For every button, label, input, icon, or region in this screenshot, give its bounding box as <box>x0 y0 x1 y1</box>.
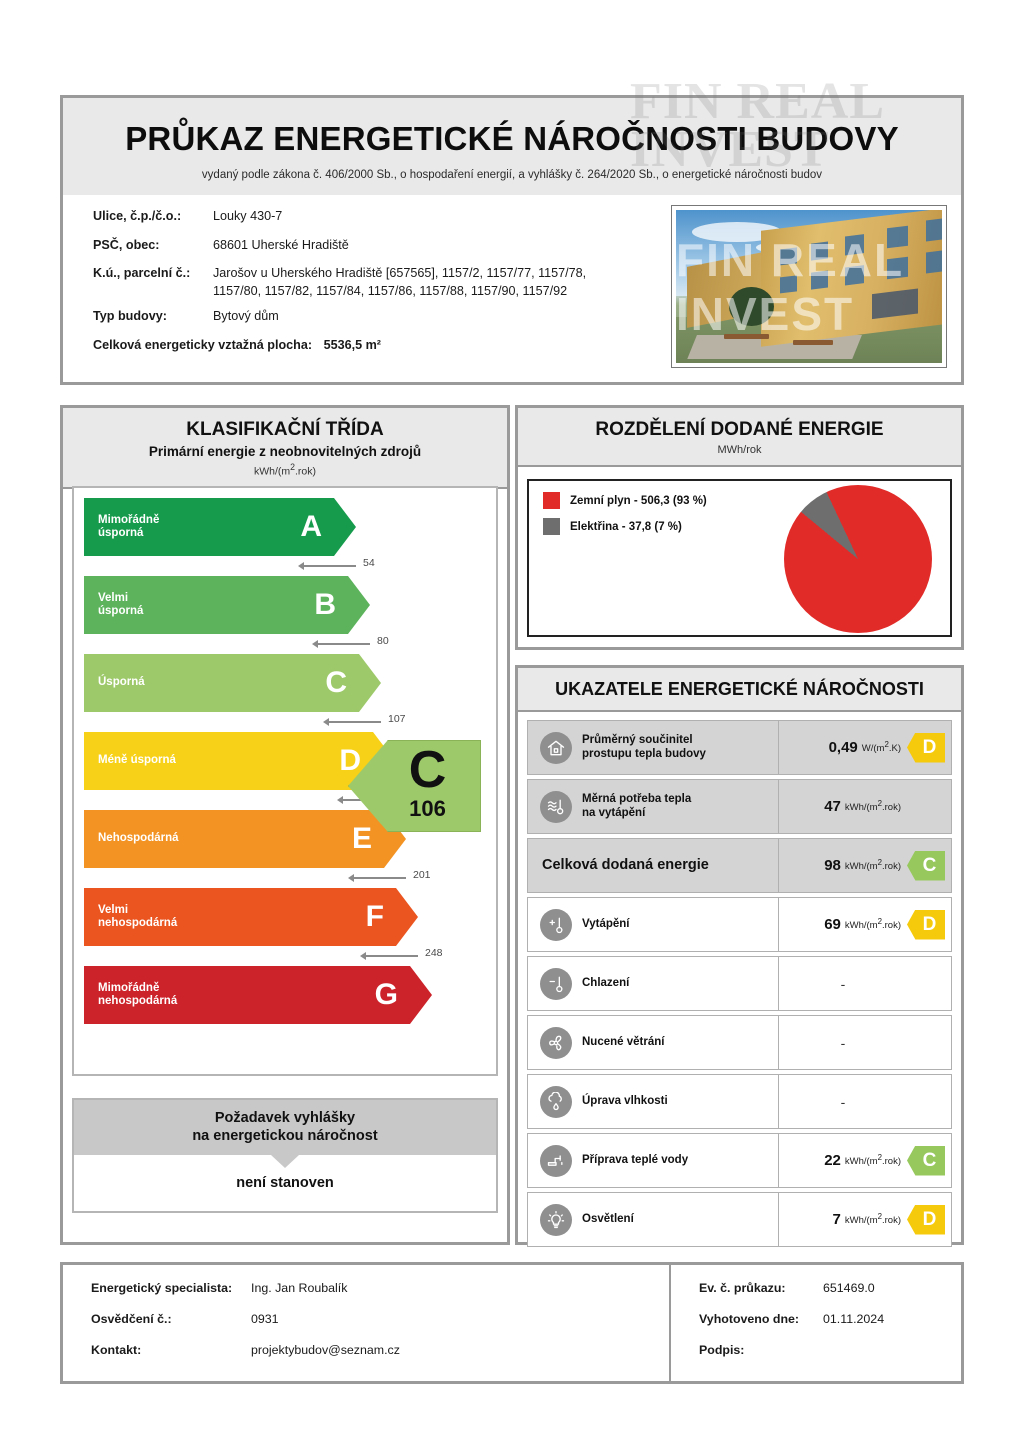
legend-swatch <box>543 492 560 509</box>
indicator-unit: kWh/(m2.rok) <box>845 799 901 813</box>
indicator-value-cell: 98kWh/(m2.rok)C <box>779 839 951 892</box>
indicator-value-cell: 47kWh/(m2.rok) <box>779 780 951 833</box>
legend-swatch <box>543 518 560 535</box>
indicator-grade-badge: C <box>907 1146 945 1176</box>
indicator-value: 47 <box>824 798 841 815</box>
building-photo: FIN REAL INVEST <box>676 210 942 363</box>
info-row-cadastre: K.ú., parcelní č.: Jarošov u Uherského H… <box>93 266 693 282</box>
indicators-list: Průměrný součinitel prostupu tepla budov… <box>527 720 952 1233</box>
indicator-value-cell: 0,49W/(m2.K)D <box>779 721 951 774</box>
indicator-label: Nucené větrání <box>582 1036 664 1050</box>
building-type-label: Typ budovy: <box>93 309 213 325</box>
faucet-icon <box>540 1145 572 1177</box>
class-label: Úsporná <box>84 676 325 689</box>
heating-thermometer-icon <box>540 909 572 941</box>
info-row-street: Ulice, č.p./č.o.: Louky 430-7 <box>93 209 693 225</box>
indicator-label: Průměrný součinitel prostupu tepla budov… <box>582 734 706 762</box>
class-label: Mimořádně úsporná <box>84 514 300 540</box>
class-label: Velmi úsporná <box>84 592 314 618</box>
footer-left: Energetický specialista: Ing. Jan Roubal… <box>63 1265 671 1381</box>
indicator-left: Úprava vlhkosti <box>528 1075 779 1128</box>
indicator-grade-spacer <box>907 792 945 822</box>
page-subtitle: vydaný podle zákona č. 406/2000 Sb., o h… <box>63 169 961 181</box>
threshold-line <box>304 565 356 567</box>
threshold-line <box>318 643 370 645</box>
classification-unit: kWh/(m2.rok) <box>63 462 507 478</box>
result-letter: C <box>409 750 447 792</box>
street-label: Ulice, č.p./č.o.: <box>93 209 213 225</box>
specialist-label: Energetický specialista: <box>91 1281 251 1295</box>
energy-class-d: Méně úspornáD154 <box>84 732 384 809</box>
class-bar-d: Méně úspornáD <box>84 732 373 790</box>
photo-entrance <box>872 288 918 319</box>
heat-waves-thermometer-icon <box>540 791 572 823</box>
classification-header: KLASIFIKAČNÍ TŘÍDA Primární energie z ne… <box>63 408 507 489</box>
footer-row-contact: Kontakt: projektybudov@seznam.cz <box>91 1343 669 1357</box>
indicator-left: Osvětlení <box>528 1193 779 1246</box>
indicator-unit: kWh/(m2.rok) <box>845 1212 901 1226</box>
indicator-label: Měrná potřeba tepla na vytápění <box>582 793 691 821</box>
indicator-row: Osvětlení7kWh/(m2.rok)D <box>527 1192 952 1247</box>
threshold-value: 80 <box>377 635 389 647</box>
indicator-row: Celková dodaná energie98kWh/(m2.rok)C <box>527 838 952 893</box>
photo-window <box>926 250 942 274</box>
photo-window <box>811 270 828 290</box>
pie-title: ROZDĚLENÍ DODANÉ ENERGIE <box>518 419 961 441</box>
class-letter: B <box>314 588 348 622</box>
indicator-value-cell: 22kWh/(m2.rok)C <box>779 1134 951 1187</box>
class-bar-a: Mimořádně úspornáA <box>84 498 334 556</box>
class-bar-arrow <box>396 888 418 946</box>
building-photo-frame: FIN REAL INVEST <box>671 205 947 368</box>
footer-row-specialist: Energetický specialista: Ing. Jan Roubal… <box>91 1281 669 1295</box>
indicator-row: Měrná potřeba tepla na vytápění47kWh/(m2… <box>527 779 952 834</box>
class-bar-arrow <box>359 654 381 712</box>
energy-class-f: Velmi nehospodárnáF248 <box>84 888 384 965</box>
indicator-unit: kWh/(m2.rok) <box>845 917 901 931</box>
indicator-value: - <box>779 976 945 992</box>
footer-right: Ev. č. průkazu: 651469.0 Vyhotoveno dne:… <box>671 1265 961 1381</box>
photo-window <box>780 275 797 293</box>
info-row-type: Typ budovy: Bytový dům <box>93 309 693 325</box>
cadastre-value: Jarošov u Uherského Hradiště [657565], 1… <box>213 266 693 282</box>
pie-header: ROZDĚLENÍ DODANÉ ENERGIE MWh/rok <box>518 408 961 467</box>
threshold-marker: 107 <box>84 712 384 731</box>
class-letter: A <box>300 510 334 544</box>
photo-window <box>811 241 828 261</box>
energy-class-e: NehospodárnáE201 <box>84 810 384 887</box>
legend-item: Elektřina - 37,8 (7 %) <box>543 518 707 535</box>
indicator-value-cell: - <box>779 1016 951 1069</box>
threshold-line <box>354 877 406 879</box>
energy-distribution-panel: ROZDĚLENÍ DODANÉ ENERGIE MWh/rok Zemní p… <box>515 405 964 650</box>
indicator-grade-badge: C <box>907 851 945 881</box>
class-label: Velmi nehospodárná <box>84 904 366 930</box>
contact-value[interactable]: projektybudov@seznam.cz <box>251 1343 400 1357</box>
indicator-label: Chlazení <box>582 977 629 991</box>
classification-panel: KLASIFIKAČNÍ TŘÍDA Primární energie z ne… <box>60 405 510 1245</box>
indicators-title: UKAZATELE ENERGETICKÉ NÁROČNOSTI <box>518 679 961 700</box>
class-label: Méně úsporná <box>84 754 339 767</box>
signature-label: Podpis: <box>699 1343 823 1357</box>
indicator-grade-badge: D <box>907 733 945 763</box>
class-bar-arrow <box>348 576 370 634</box>
photo-window <box>926 218 942 242</box>
certificate-value: 0931 <box>251 1312 279 1326</box>
house-icon <box>540 732 572 764</box>
class-letter: C <box>325 666 359 700</box>
indicator-label: Vytápění <box>582 918 630 932</box>
floor-area-value: 5536,5 m² <box>324 338 381 352</box>
threshold-arrow <box>323 718 329 726</box>
indicator-value-cell: 69kWh/(m2.rok)D <box>779 898 951 951</box>
requirement-title: Požadavek vyhlášky na energetickou nároč… <box>74 1100 496 1155</box>
photo-window <box>888 257 909 279</box>
energy-scale: Mimořádně úspornáA54Velmi úspornáB80Úspo… <box>72 486 498 1076</box>
class-bar-b: Velmi úspornáB <box>84 576 348 634</box>
class-bar-e: NehospodárnáE <box>84 810 384 868</box>
indicator-row: Chlazení- <box>527 956 952 1011</box>
result-badge-shape: C 106 <box>348 740 481 832</box>
energy-class-b: Velmi úspornáB80 <box>84 576 384 653</box>
indicator-row: Příprava teplé vody22kWh/(m2.rok)C <box>527 1133 952 1188</box>
building-info-area: Ulice, č.p./č.o.: Louky 430-7 PSČ, obec:… <box>63 195 961 376</box>
legend-label: Elektřina - 37,8 (7 %) <box>570 521 682 533</box>
indicator-label: Příprava teplé vody <box>582 1154 688 1168</box>
humidity-icon <box>540 1086 572 1118</box>
energy-class-c: ÚspornáC107 <box>84 654 384 731</box>
evidence-label: Ev. č. průkazu: <box>699 1281 823 1295</box>
indicator-label: Úprava vlhkosti <box>582 1095 668 1109</box>
building-type-value: Bytový dům <box>213 309 693 325</box>
threshold-value: 201 <box>413 869 431 881</box>
class-bar-f: Velmi nehospodárnáF <box>84 888 396 946</box>
zip-value: 68601 Uherské Hradiště <box>213 238 693 254</box>
class-bar-c: ÚspornáC <box>84 654 359 712</box>
indicator-unit: W/(m2.K) <box>862 740 901 754</box>
evidence-value: 651469.0 <box>823 1281 875 1295</box>
indicator-label: Osvětlení <box>582 1213 634 1227</box>
footer-row-evidence: Ev. č. průkazu: 651469.0 <box>699 1281 961 1295</box>
header-panel: PRŮKAZ ENERGETICKÉ NÁROČNOSTI BUDOVY vyd… <box>60 95 964 385</box>
zip-label: PSČ, obec: <box>93 238 213 254</box>
threshold-arrow <box>348 874 354 882</box>
indicator-row: Nucené větrání- <box>527 1015 952 1070</box>
indicator-row: Průměrný součinitel prostupu tepla budov… <box>527 720 952 775</box>
photo-window <box>845 265 864 286</box>
photo-window <box>780 247 797 265</box>
title-band: PRŮKAZ ENERGETICKÉ NÁROČNOSTI BUDOVY vyd… <box>63 98 961 195</box>
class-bar-g: Mimořádně nehospodárnáG <box>84 966 410 1024</box>
threshold-arrow <box>360 952 366 960</box>
indicator-value: - <box>779 1094 945 1110</box>
penb-document: PRŮKAZ ENERGETICKÉ NÁROČNOSTI BUDOVY vyd… <box>0 0 1024 1451</box>
indicator-value: - <box>779 1035 945 1051</box>
indicator-value: 22 <box>824 1152 841 1169</box>
threshold-line <box>329 721 381 723</box>
floor-area-row: Celková energeticky vztažná plocha: 5536… <box>93 338 693 354</box>
contact-label: Kontakt: <box>91 1343 251 1357</box>
info-row-zip: PSČ, obec: 68601 Uherské Hradiště <box>93 238 693 254</box>
threshold-arrow <box>337 796 343 804</box>
indicator-unit: kWh/(m2.rok) <box>845 858 901 872</box>
indicator-row: Vytápění69kWh/(m2.rok)D <box>527 897 952 952</box>
indicators-header: UKAZATELE ENERGETICKÉ NÁROČNOSTI <box>518 668 961 712</box>
legend-item: Zemní plyn - 506,3 (93 %) <box>543 492 707 509</box>
pie-subtitle: MWh/rok <box>518 444 961 456</box>
indicator-value-cell: 7kWh/(m2.rok)D <box>779 1193 951 1246</box>
indicator-left: Chlazení <box>528 957 779 1010</box>
energy-class-a: Mimořádně úspornáA54 <box>84 498 384 575</box>
indicator-value: 69 <box>824 916 841 933</box>
indicator-left: Nucené větrání <box>528 1016 779 1069</box>
date-value: 01.11.2024 <box>823 1312 884 1326</box>
street-value: Louky 430-7 <box>213 209 693 225</box>
energy-class-bars: Mimořádně úspornáA54Velmi úspornáB80Úspo… <box>84 498 384 1025</box>
indicator-left: Měrná potřeba tepla na vytápění <box>528 780 779 833</box>
photo-window <box>888 226 909 248</box>
threshold-value: 248 <box>425 947 443 959</box>
indicator-left: Příprava teplé vody <box>528 1134 779 1187</box>
photo-bench <box>793 340 833 345</box>
indicators-panel: UKAZATELE ENERGETICKÉ NÁROČNOSTI Průměrn… <box>515 665 964 1245</box>
building-info: Ulice, č.p./č.o.: Louky 430-7 PSČ, obec:… <box>93 209 693 353</box>
indicator-value-cell: - <box>779 1075 951 1128</box>
pie-body: Zemní plyn - 506,3 (93 %)Elektřina - 37,… <box>527 479 952 637</box>
photo-window <box>845 234 864 255</box>
indicator-grade-badge: D <box>907 1205 945 1235</box>
fan-icon <box>540 1027 572 1059</box>
floor-area-label: Celková energeticky vztažná plocha: <box>93 338 312 352</box>
lightbulb-icon <box>540 1204 572 1236</box>
requirement-notch <box>271 1155 299 1168</box>
energy-class-g: Mimořádně nehospodárnáG <box>84 966 384 1024</box>
result-value: 106 <box>409 796 446 822</box>
indicator-left: Vytápění <box>528 898 779 951</box>
class-bar-arrow <box>334 498 356 556</box>
cooling-thermometer-icon <box>540 968 572 1000</box>
threshold-line <box>366 955 418 957</box>
indicator-unit: kWh/(m2.rok) <box>845 1153 901 1167</box>
certificate-label: Osvědčení č.: <box>91 1312 251 1326</box>
indicator-left: Průměrný součinitel prostupu tepla budov… <box>528 721 779 774</box>
threshold-arrow <box>312 640 318 648</box>
threshold-marker: 248 <box>84 946 384 965</box>
cadastre-label: K.ú., parcelní č.: <box>93 266 213 282</box>
indicator-value-cell: - <box>779 957 951 1010</box>
cadastre-value-line2: 1157/80, 1157/82, 1157/84, 1157/86, 1157… <box>213 284 693 300</box>
indicator-value: 98 <box>824 857 841 874</box>
threshold-value: 54 <box>363 557 375 569</box>
threshold-value: 107 <box>388 713 406 725</box>
result-badge: C 106 <box>348 740 481 832</box>
class-letter: G <box>375 978 410 1012</box>
threshold-marker: 80 <box>84 634 384 653</box>
threshold-marker: 54 <box>84 556 384 575</box>
specialist-value: Ing. Jan Roubalík <box>251 1281 347 1295</box>
footer-row-certificate: Osvědčení č.: 0931 <box>91 1312 669 1326</box>
requirement-box: Požadavek vyhlášky na energetickou nároč… <box>72 1098 498 1213</box>
footer-row-signature: Podpis: <box>699 1343 961 1357</box>
footer-row-date: Vyhotoveno dne: 01.11.2024 <box>699 1312 961 1326</box>
threshold-arrow <box>298 562 304 570</box>
indicator-value: 7 <box>833 1211 841 1228</box>
photo-bench <box>724 334 769 339</box>
date-label: Vyhotoveno dne: <box>699 1312 823 1326</box>
page-title: PRŮKAZ ENERGETICKÉ NÁROČNOSTI BUDOVY <box>63 120 961 158</box>
class-bar-arrow <box>410 966 432 1024</box>
photo-building-near <box>761 210 942 347</box>
classification-title: KLASIFIKAČNÍ TŘÍDA <box>63 419 507 441</box>
indicator-value: 0,49 <box>829 739 858 756</box>
pie-chart <box>784 485 932 633</box>
indicator-grade-badge: D <box>907 910 945 940</box>
footer-panel: Energetický specialista: Ing. Jan Roubal… <box>60 1262 964 1384</box>
class-label: Mimořádně nehospodárná <box>84 982 375 1008</box>
threshold-marker: 201 <box>84 868 384 887</box>
legend-label: Zemní plyn - 506,3 (93 %) <box>570 495 707 507</box>
indicator-label: Celková dodaná energie <box>528 857 709 874</box>
class-label: Nehospodárná <box>84 832 352 845</box>
pie-legend: Zemní plyn - 506,3 (93 %)Elektřina - 37,… <box>543 492 707 544</box>
classification-subtitle: Primární energie z neobnovitelných zdroj… <box>63 444 507 459</box>
threshold-marker: 154 <box>84 790 384 809</box>
indicator-row: Úprava vlhkosti- <box>527 1074 952 1129</box>
class-letter: F <box>366 900 396 934</box>
indicator-left: Celková dodaná energie <box>528 839 779 892</box>
